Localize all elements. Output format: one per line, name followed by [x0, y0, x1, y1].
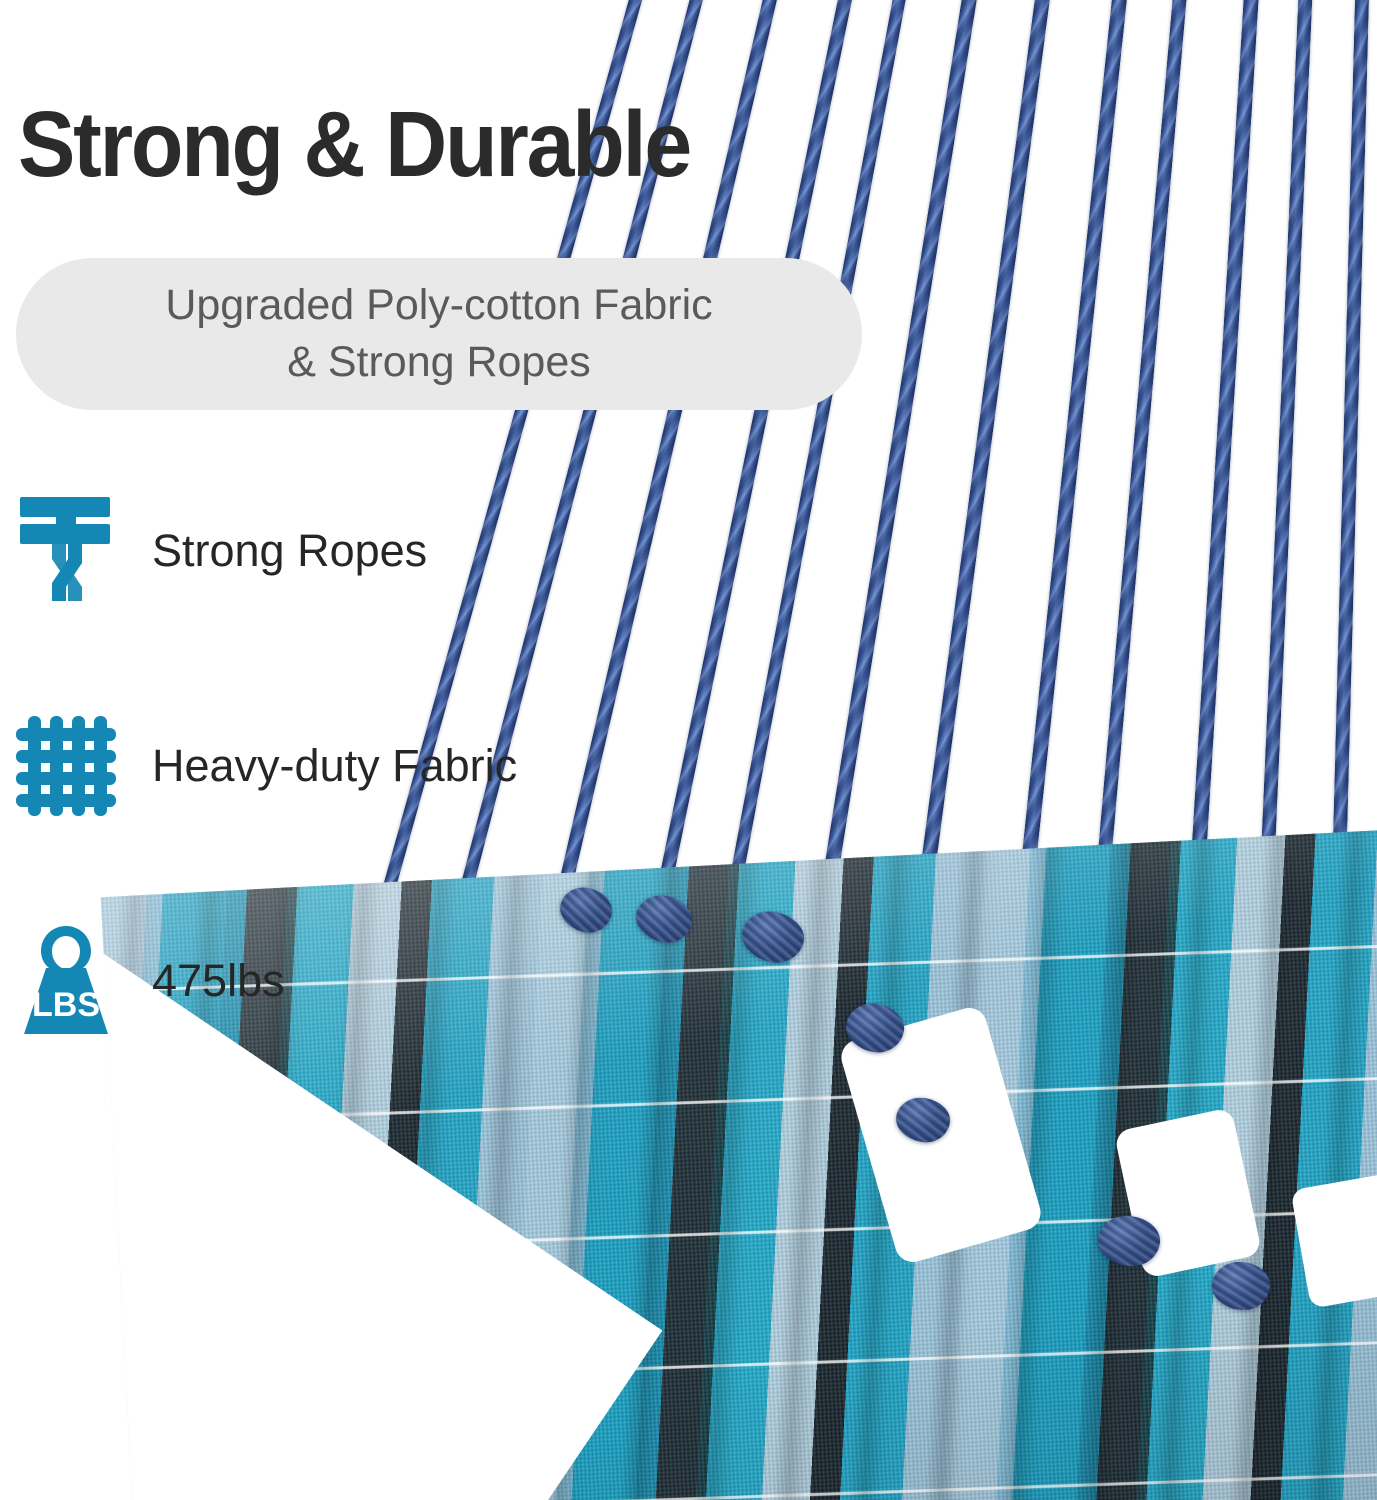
- feature-item-strong-ropes: Strong Ropes: [14, 486, 654, 616]
- feature-label-weight-capacity: 475lbs: [152, 955, 285, 1007]
- feature-item-heavy-duty-fabric: Heavy-duty Fabric: [14, 701, 654, 831]
- feature-list: Strong Ropes: [14, 486, 654, 1046]
- subtitle-line-1: Upgraded Poly-cotton Fabric: [165, 281, 712, 329]
- feature-item-weight-capacity: LBS 475lbs: [14, 916, 654, 1046]
- subtitle-text: Upgraded Poly-cotton Fabric & Strong Rop…: [117, 277, 760, 391]
- woven-fabric-grid-icon: [14, 706, 118, 826]
- rope-beam-icon: [14, 491, 118, 611]
- weight-icon-text: LBS: [32, 986, 100, 1024]
- page-title: Strong & Durable: [18, 98, 690, 191]
- subtitle-pill: Upgraded Poly-cotton Fabric & Strong Rop…: [16, 258, 862, 410]
- subtitle-line-2: & Strong Ropes: [287, 338, 591, 386]
- feature-label-heavy-duty-fabric: Heavy-duty Fabric: [152, 740, 517, 792]
- infographic-canvas: Strong & Durable Upgraded Poly-cotton Fa…: [0, 0, 1377, 1500]
- weight-lbs-icon: LBS: [14, 921, 118, 1041]
- feature-label-strong-ropes: Strong Ropes: [152, 525, 427, 577]
